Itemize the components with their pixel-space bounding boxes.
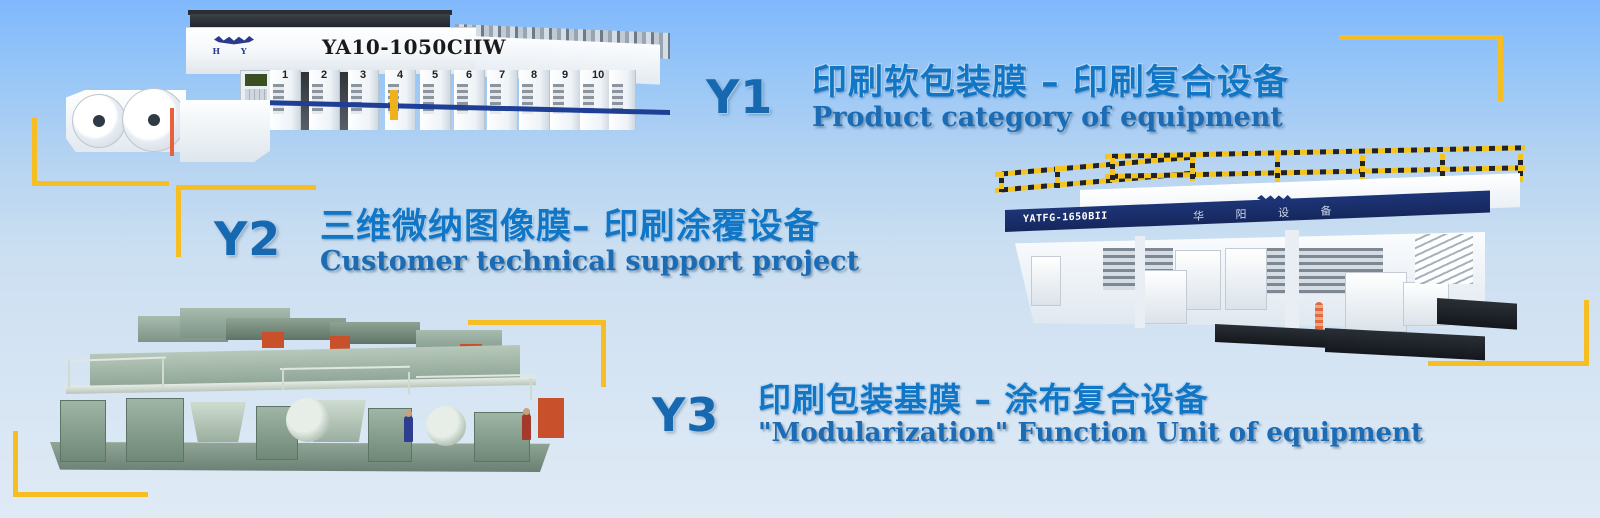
m2-rail-post <box>1275 156 1280 182</box>
m1-control-screen <box>245 74 267 86</box>
bracket-lower-mid-vertical <box>601 320 606 387</box>
title-cn-y2: 三维微纳图像膜– 印刷涂覆设备 <box>320 206 859 248</box>
bracket-bottom-left-vertical <box>13 431 18 497</box>
m3-operator <box>404 416 413 442</box>
bracket-left-horizontal <box>32 181 169 186</box>
m1-brand-initials: H Y <box>212 46 256 56</box>
m2-safety-rail-top <box>1105 145 1525 159</box>
bracket-left-vertical <box>32 118 37 186</box>
title-cn-y1: 印刷软包装膜 – 印刷复合设备 <box>812 62 1289 104</box>
m2-rail-post <box>1360 155 1365 181</box>
m3-web-pan <box>190 402 246 442</box>
bracket-top-right-vertical <box>1498 35 1503 101</box>
text-block-y1: 印刷软包装膜 – 印刷复合设备 Product category of equi… <box>812 62 1289 133</box>
m1-brand-logo: H Y <box>210 36 258 56</box>
m3-chill-drum <box>426 406 466 446</box>
title-cn-y3: 印刷包装基膜 – 涂布复合设备 <box>758 380 1423 420</box>
m2-rail-post <box>999 172 1004 192</box>
m2-rail-post <box>1055 166 1060 188</box>
m1-unwind-roll-rear <box>72 94 126 148</box>
m3-warning-panel <box>538 398 564 438</box>
m1-print-unit: 2 <box>309 70 340 130</box>
m1-print-unit: 9 <box>550 70 581 130</box>
m1-web-guide-marker <box>170 108 174 156</box>
bracket-bottom-right-vertical <box>1584 300 1589 366</box>
label-code-y2: Y2 <box>214 212 281 266</box>
m3-operator <box>522 414 531 440</box>
m2-support-column <box>1135 236 1145 328</box>
m2-drive-cabinet <box>1225 248 1267 310</box>
m2-support-column <box>1285 230 1299 340</box>
m2-machine-base <box>1325 328 1485 360</box>
m1-print-unit: 10 <box>580 70 611 130</box>
m3-rail-post <box>162 358 164 388</box>
m3-drive-motor <box>262 332 284 348</box>
banner-root: H Y YA10-1050CIIW 1 2 3 4 5 6 7 8 9 10 <box>0 0 1600 518</box>
m3-rail-post <box>282 368 284 390</box>
text-block-y3: 印刷包装基膜 – 涂布复合设备 "Modularization" Functio… <box>758 380 1423 448</box>
m1-infeed-housing <box>180 100 270 162</box>
m1-model-label: YA10-1050CIIW <box>322 35 506 59</box>
m1-print-unit: 8 <box>519 70 550 130</box>
label-code-y3: Y3 <box>652 388 719 442</box>
m1-print-unit: 7 <box>487 70 518 130</box>
bracket-mid-vertical <box>176 185 181 257</box>
m3-chill-drum <box>286 398 330 442</box>
m3-rail-post <box>408 372 410 394</box>
m3-exhaust-duct <box>226 318 346 340</box>
label-code-y1: Y1 <box>706 70 773 124</box>
machine-photo-gravure-printing-press: H Y YA10-1050CIIW 1 2 3 4 5 6 7 8 9 10 <box>60 8 600 180</box>
bracket-top-right-horizontal <box>1339 35 1503 40</box>
m1-yellow-guard <box>390 90 398 120</box>
m3-rail-post <box>530 378 532 400</box>
subtitle-en-y3: "Modularization" Function Unit of equipm… <box>758 419 1423 448</box>
m3-rail-post <box>68 360 70 388</box>
m2-access-stairs <box>1415 234 1473 284</box>
m2-rail-post <box>1110 158 1115 182</box>
machine-photo-laminating-coating-machine: YATFG-1650BII 华 阳 设 备 <box>985 152 1530 370</box>
m2-rewind-housing <box>1345 272 1407 332</box>
m1-unwind-roll-front <box>122 88 186 152</box>
bracket-mid-horizontal <box>176 185 316 190</box>
subtitle-en-y2: Customer technical support project <box>320 247 859 277</box>
m2-drive-cabinet <box>1031 256 1061 306</box>
m1-print-unit: 3 <box>348 70 379 130</box>
text-block-y2: 三维微纳图像膜– 印刷涂覆设备 Customer technical suppo… <box>320 206 859 277</box>
m3-coating-station <box>126 398 184 462</box>
bracket-bottom-left-horizontal <box>13 492 148 497</box>
m2-rail-post <box>1190 157 1195 181</box>
m1-roof-deck <box>190 14 450 28</box>
m3-coating-station <box>60 400 106 462</box>
machine-photo-base-film-coating-line <box>30 302 575 480</box>
m1-print-unit: 6 <box>454 70 485 130</box>
m1-print-unit: 5 <box>420 70 451 130</box>
m1-exit-unit <box>609 70 636 130</box>
m2-machine-base <box>1437 298 1517 330</box>
subtitle-en-y1: Product category of equipment <box>812 103 1289 133</box>
